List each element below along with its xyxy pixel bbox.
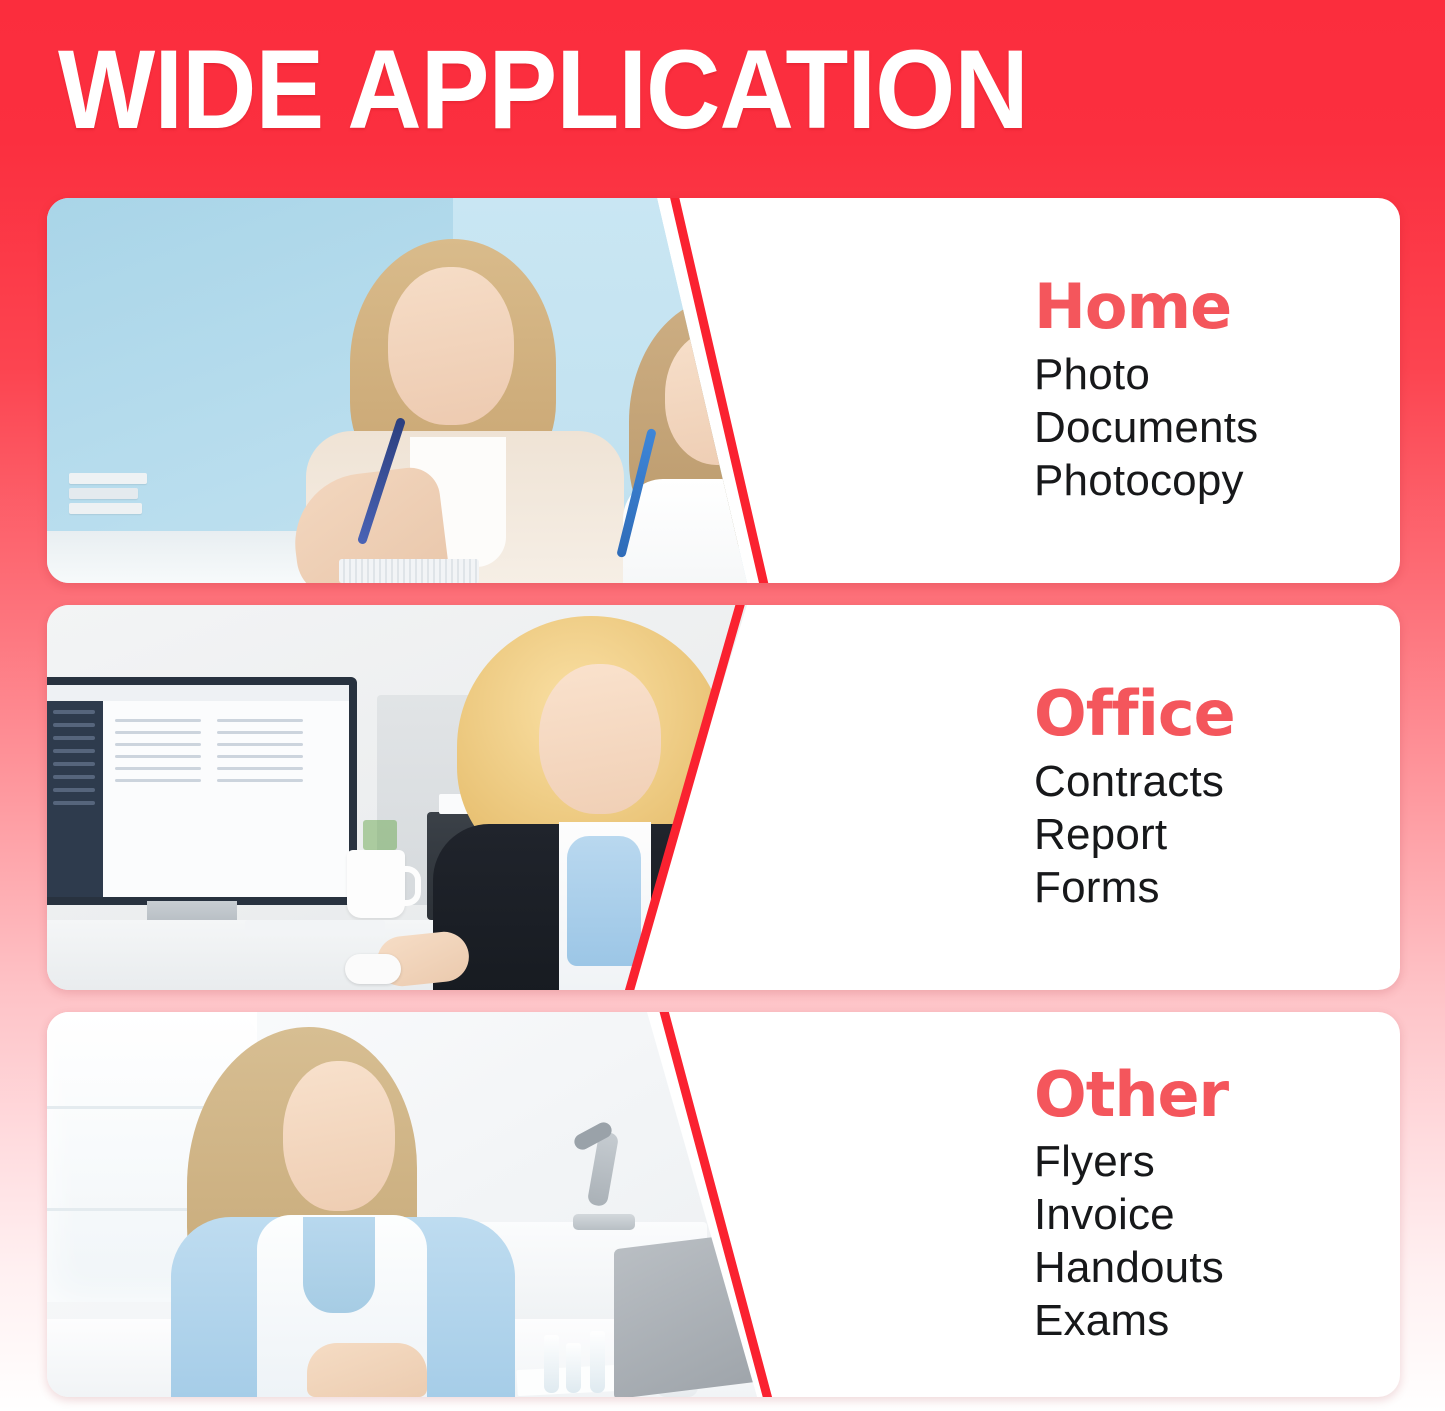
neck-bow (567, 836, 641, 966)
card-title-office: Office (1034, 681, 1400, 746)
card-list-home: Photo Documents Photocopy (1034, 348, 1400, 507)
card-text-home: Home Photo Documents Photocopy (760, 198, 1400, 583)
list-item: Report (1034, 808, 1400, 861)
card-list-office: Contracts Report Forms (1034, 755, 1400, 914)
collar (303, 1217, 375, 1313)
list-item: Photocopy (1034, 454, 1400, 507)
face (388, 267, 514, 425)
card-text-office: Office Contracts Report Forms (760, 605, 1400, 990)
application-card-other[interactable]: Other Flyers Invoice Handouts Exams (47, 1012, 1400, 1397)
list-item: Documents (1034, 401, 1400, 454)
office-chair (682, 820, 772, 990)
screen-text-column (115, 719, 201, 791)
coffee-mug (347, 850, 405, 918)
face (539, 664, 661, 814)
page-title: WIDE APPLICATION (58, 34, 1028, 146)
header-banner: WIDE APPLICATION (0, 0, 1445, 180)
microscope-base (573, 1214, 635, 1230)
book-stack-icon (69, 473, 147, 533)
list-item: Contracts (1034, 755, 1400, 808)
list-item: Flyers (1034, 1135, 1400, 1188)
scene-home-tutoring (47, 198, 772, 583)
microscope-icon (567, 1132, 641, 1230)
screen-text-column (217, 719, 303, 791)
scene-laboratory (47, 1012, 772, 1397)
card-text-other: Other Flyers Invoice Handouts Exams (760, 1012, 1400, 1397)
notebook (339, 559, 479, 583)
card-title-home: Home (1034, 274, 1400, 339)
application-card-office[interactable]: Office Contracts Report Forms (47, 605, 1400, 990)
card-list-other: Flyers Invoice Handouts Exams (1034, 1135, 1400, 1347)
card-photo-office (47, 605, 772, 990)
laptop (614, 1229, 772, 1397)
keyboard (245, 920, 385, 936)
card-title-other: Other (1034, 1062, 1400, 1127)
face (283, 1061, 395, 1211)
test-tubes (544, 1329, 622, 1393)
scene-office-desk (47, 605, 772, 990)
computer-mouse (345, 954, 401, 984)
face (665, 329, 772, 465)
list-item: Exams (1034, 1294, 1400, 1347)
person-lab-technician (187, 1017, 517, 1397)
list-item: Handouts (1034, 1241, 1400, 1294)
list-item: Forms (1034, 861, 1400, 914)
person-businesswoman (447, 610, 772, 990)
screen-toolbar (47, 685, 349, 701)
card-photo-home (47, 198, 772, 583)
person-adult (302, 223, 632, 583)
monitor-screen (47, 685, 349, 897)
torso (623, 479, 772, 583)
screen-sidebar (47, 701, 103, 905)
desktop-monitor (47, 677, 357, 905)
person-child (607, 283, 772, 583)
card-photo-other (47, 1012, 772, 1397)
application-card-home[interactable]: Home Photo Documents Photocopy (47, 198, 1400, 583)
clasped-hands (307, 1343, 427, 1397)
infographic-page: WIDE APPLICATION (0, 0, 1445, 1411)
list-item: Photo (1034, 348, 1400, 401)
pen-holder (363, 820, 397, 850)
list-item: Invoice (1034, 1188, 1400, 1241)
